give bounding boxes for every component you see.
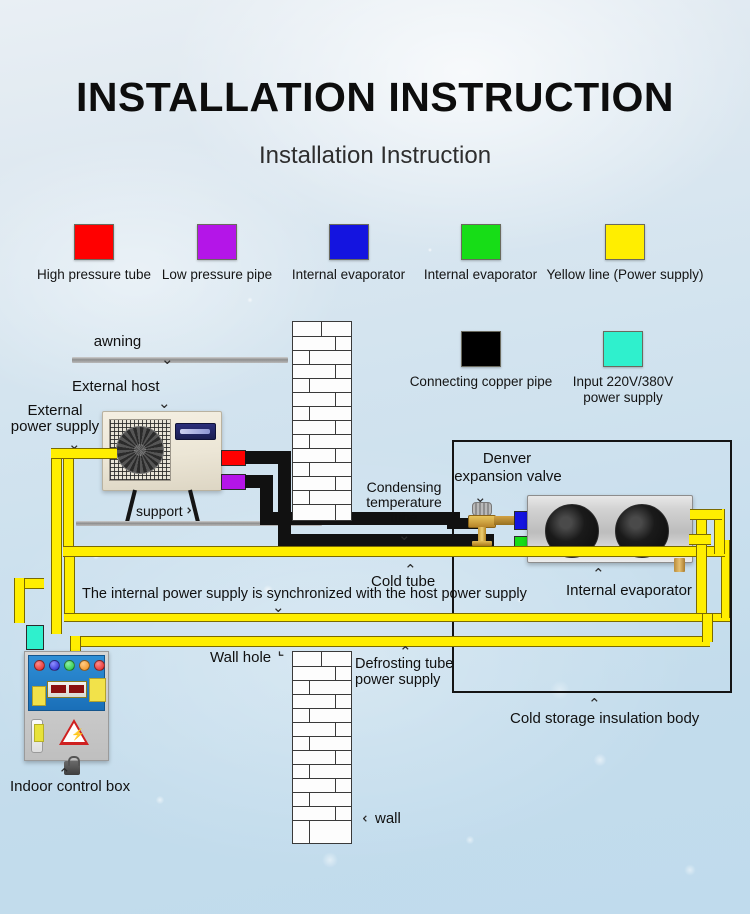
denver-valve-label-line2: expansion valve <box>440 469 576 486</box>
internal-evaporator-caret-icon: ⌄ <box>592 565 605 580</box>
power-line-defrost-riser-right <box>702 614 713 642</box>
panel-sticker-right <box>89 678 106 702</box>
legend-label: Yellow line (Power supply) <box>545 267 705 283</box>
brick-row <box>293 378 351 379</box>
legend-label: Internal evaporator <box>413 267 548 283</box>
power-line-external-top <box>51 448 117 459</box>
awning-bar <box>72 357 288 363</box>
brick-divider <box>309 434 310 448</box>
copper-pipe-high-vertical <box>278 451 291 547</box>
indicator-led-red-2[interactable] <box>94 660 105 671</box>
brick-divider <box>335 666 336 680</box>
brick-row <box>293 476 351 477</box>
input-power-connector <box>26 625 44 650</box>
legend-label-line2: power supply <box>562 390 684 406</box>
wall-upper <box>292 321 352 521</box>
brick-divider <box>321 652 322 666</box>
brick-row <box>293 694 351 695</box>
lightning-bolt-icon: ⚡ <box>71 730 85 741</box>
brick-row <box>293 406 351 407</box>
wall-lower <box>292 651 352 844</box>
cold-storage-caret-icon: ⌄ <box>588 695 601 710</box>
power-line-sync-bus <box>63 546 725 557</box>
brick-row <box>293 350 351 351</box>
power-line-input-vertical <box>14 578 25 623</box>
power-line-external-vertical-left <box>51 448 62 634</box>
cold-tube-caret-icon: ⌄ <box>404 561 417 576</box>
indicator-led-green[interactable] <box>64 660 75 671</box>
wall-caret-icon: ⌄ <box>360 812 375 825</box>
defrosting-caret-icon: ⌄ <box>399 643 412 658</box>
brick-divider <box>335 806 336 820</box>
indoor-control-box: ⚡ <box>24 651 109 761</box>
brick-divider <box>309 736 310 750</box>
legend-label: Input 220V/380V <box>562 374 684 390</box>
page-subtitle: Installation Instruction <box>0 142 750 170</box>
brick-divider <box>309 708 310 722</box>
legend-item-internal-evaporator-green: Internal evaporator <box>413 224 548 283</box>
valve-cap <box>472 502 492 516</box>
legend-label: Low pressure pipe <box>152 267 282 283</box>
brick-divider <box>335 750 336 764</box>
brick-divider <box>309 820 310 844</box>
brick-divider <box>335 504 336 521</box>
legend-item-low-pressure-pipe: Low pressure pipe <box>152 224 282 283</box>
legend-item-connecting-copper-pipe: Connecting copper pipe <box>398 331 564 390</box>
power-line-evaporator-feed-top <box>690 509 722 520</box>
color-swatch <box>603 331 643 367</box>
sync-note-label: The internal power supply is synchronize… <box>82 586 527 602</box>
external-host-outdoor-unit <box>102 411 222 491</box>
brick-divider <box>335 364 336 378</box>
indoor-control-box-label: Indoor control box <box>10 779 130 796</box>
high-pressure-connector <box>221 450 246 466</box>
brick-divider <box>335 392 336 406</box>
power-line-host-vertical <box>63 459 74 554</box>
color-swatch <box>74 224 114 260</box>
color-swatch <box>329 224 369 260</box>
brick-divider <box>335 694 336 708</box>
external-host-label: External host <box>72 379 160 396</box>
brick-row <box>293 392 351 393</box>
page-title: INSTALLATION INSTRUCTION <box>0 74 750 121</box>
brick-divider <box>309 406 310 420</box>
condensing-tube-caret-icon: ⌄ <box>398 528 411 543</box>
indicator-led-red-1[interactable] <box>34 660 45 671</box>
legend-label: Internal evaporator <box>281 267 416 283</box>
brick-divider <box>309 462 310 476</box>
wall-hole-label: Wall hole <box>210 650 271 667</box>
brick-row <box>293 420 351 421</box>
legend-item-yellow-line-power-supply: Yellow line (Power supply) <box>545 224 705 283</box>
cold-storage-label: Cold storage insulation body <box>510 711 699 728</box>
brick-row <box>293 792 351 793</box>
brick-row <box>293 820 351 821</box>
copper-pipe-low-vertical <box>260 475 273 512</box>
external-power-supply-label-line2: power supply <box>0 419 110 436</box>
brick-divider <box>309 680 310 694</box>
wall-label: wall <box>375 811 401 828</box>
brick-divider <box>335 448 336 462</box>
brick-divider <box>309 350 310 364</box>
brick-row <box>293 448 351 449</box>
power-line-controlbox-riser <box>64 557 75 613</box>
brick-row <box>293 708 351 709</box>
brick-row <box>293 504 351 505</box>
indicator-led-orange[interactable] <box>79 660 90 671</box>
support-label: support <box>136 504 183 520</box>
denver-valve-label-line1: Denver <box>452 451 562 468</box>
brick-row <box>293 764 351 765</box>
awning-label: awning <box>80 334 155 351</box>
legend-item-high-pressure-tube: High pressure tube <box>28 224 160 283</box>
panel-sticker-left <box>32 686 46 706</box>
brick-row <box>293 680 351 681</box>
condensing-tube-label-line3: tube <box>358 510 450 526</box>
brick-row <box>293 462 351 463</box>
internal-evaporator-label: Internal evaporator <box>566 583 692 600</box>
brick-divider <box>321 322 322 336</box>
brick-divider <box>335 336 336 350</box>
brick-divider <box>335 476 336 490</box>
brick-row <box>293 778 351 779</box>
diagram-canvas: INSTALLATION INSTRUCTION Installation In… <box>0 0 750 914</box>
brick-divider <box>309 378 310 392</box>
brick-row <box>293 666 351 667</box>
indicator-led-blue[interactable] <box>49 660 60 671</box>
temperature-display[interactable] <box>47 681 87 698</box>
brick-row <box>293 736 351 737</box>
color-swatch <box>461 224 501 260</box>
evaporator-drain-pipe <box>674 558 685 572</box>
denver-expansion-valve <box>466 502 500 548</box>
brick-row <box>293 364 351 365</box>
power-line-defrost-bus <box>70 636 710 647</box>
legend-item-internal-evaporator-blue: Internal evaporator <box>281 224 416 283</box>
color-swatch <box>605 224 645 260</box>
brick-divider <box>309 490 310 504</box>
valve-outlet-copper <box>494 516 516 525</box>
low-pressure-connector <box>221 474 246 490</box>
brick-divider <box>309 764 310 778</box>
sync-note-caret-icon: ⌄ <box>272 600 285 615</box>
outdoor-unit-fan-icon <box>116 426 164 474</box>
support-caret-icon: ⌄ <box>179 504 194 517</box>
control-box-panel <box>28 655 105 711</box>
brick-divider <box>335 722 336 736</box>
brick-row <box>293 750 351 751</box>
brick-row <box>293 722 351 723</box>
brick-row <box>293 336 351 337</box>
color-swatch <box>461 331 501 367</box>
power-line-cold-store-bottom <box>64 613 730 622</box>
outdoor-unit-brand-badge <box>175 423 216 440</box>
legend-label: Connecting copper pipe <box>398 374 564 390</box>
legend-item-input-power-supply: Input 220V/380V power supply <box>562 331 684 405</box>
color-swatch <box>197 224 237 260</box>
brick-divider <box>309 792 310 806</box>
legend-label: High pressure tube <box>28 267 160 283</box>
power-line-evaporator-feed-mid <box>689 534 711 545</box>
brick-row <box>293 434 351 435</box>
brick-row <box>293 490 351 491</box>
brick-row <box>293 806 351 807</box>
external-host-caret-icon: ⌄ <box>158 396 171 411</box>
defrosting-label-line2: power supply <box>355 672 440 688</box>
awning-caret-icon: ⌄ <box>161 352 174 367</box>
brick-divider <box>335 420 336 434</box>
brick-divider <box>335 778 336 792</box>
power-switch[interactable] <box>31 719 43 753</box>
